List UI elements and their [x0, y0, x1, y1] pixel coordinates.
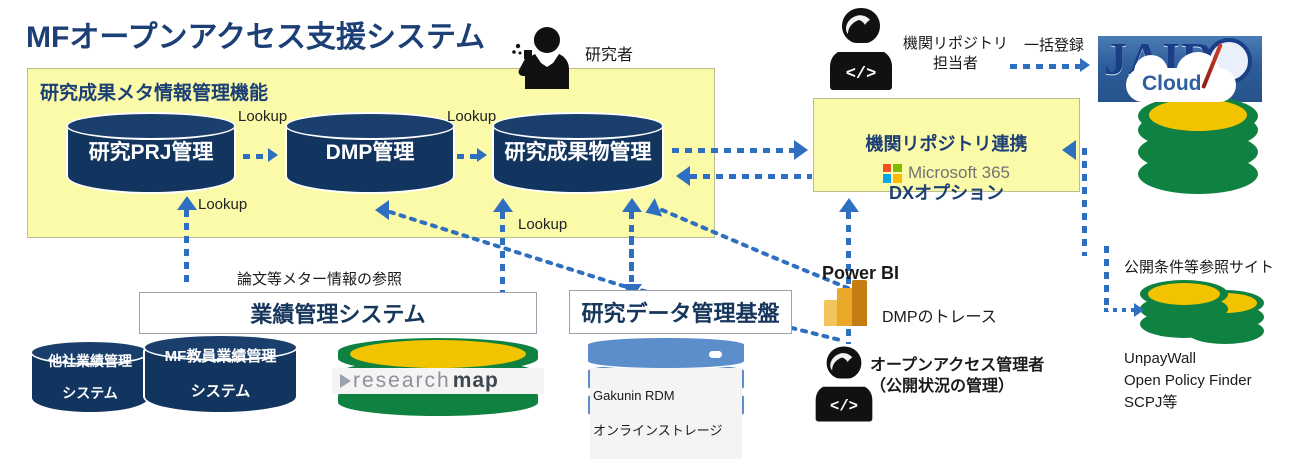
repository-staff-icon: </> — [826, 6, 896, 92]
jairo-to-dx-line — [1082, 148, 1087, 256]
policy-site-item: UnpayWall — [1124, 348, 1252, 370]
system-title: MFオープンアクセス支援システム — [26, 12, 485, 56]
dx-option-box: 機関リポジトリ連携 DXオプション Microsoft 365 — [813, 98, 1080, 192]
server-segment — [586, 336, 746, 370]
database-label: 研究PRJ管理 — [66, 141, 236, 165]
researcher-label: 研究者 — [585, 46, 633, 67]
lookup-gyoseki-line — [184, 210, 189, 288]
policy-site-item: SCPJ等 — [1124, 392, 1252, 414]
database-other-vendor-gyoseki: 他社業績管理 システム — [30, 340, 150, 414]
storage-label-line2: オンラインストレージ — [593, 422, 739, 440]
policy-site-item: Open Policy Finder — [1124, 370, 1252, 392]
lookup-label-dmp-output: Lookup — [447, 108, 496, 125]
repository-staff-label-line2: 担当者 — [903, 54, 1008, 74]
policy-sites-link-elbow — [1104, 308, 1138, 312]
research-data-platform-label: 研究データ管理基盤 — [581, 296, 779, 328]
microsoft-365-badge: Microsoft 365 — [814, 163, 1079, 183]
database-research-output: 研究成果物管理 — [492, 112, 664, 194]
dx-to-output-line — [690, 174, 812, 179]
db-label-line1: 他社業績管理 — [30, 353, 150, 369]
gakunin-rdm-storage: Gakunin RDM オンラインストレージ — [586, 336, 746, 424]
output-to-dx-line — [672, 148, 796, 153]
dmp-backlink-head — [375, 200, 389, 220]
rmap-lid — [350, 340, 526, 368]
db-label-line2: システム — [30, 385, 150, 401]
dx-option-title-line1: 機関リポジトリ連携 — [814, 132, 1079, 156]
bulk-register-head — [1080, 58, 1090, 72]
cylinder-top — [66, 112, 236, 140]
research-data-platform-box: 研究データ管理基盤 — [569, 290, 792, 334]
arrow-prj-to-dmp-line — [243, 154, 269, 159]
lookup-label-prj-dmp: Lookup — [238, 108, 287, 125]
db-disc-top — [1148, 283, 1220, 305]
policy-sites-link-line — [1104, 246, 1109, 312]
database-label: DMP管理 — [285, 141, 455, 165]
arrow-dmp-to-output-head — [477, 148, 487, 162]
diagram-canvas: MFオープンアクセス支援システム 研究成果メタ情報管理機能 研究者 研究PRJ管… — [0, 0, 1300, 440]
microsoft-logo-icon — [883, 164, 902, 183]
repository-staff-label: 機関リポジトリ 担当者 — [903, 34, 1008, 73]
jairo-to-dx-line-h — [1082, 148, 1084, 153]
lookup-gyoseki-head — [177, 196, 197, 210]
lookup-label-gyoseki: Lookup — [198, 196, 247, 213]
output-to-dx-head — [794, 140, 808, 160]
researchmap-label-research: research — [353, 369, 451, 393]
oa-manager-icon: </> — [812, 344, 876, 424]
db-disc-top — [1149, 99, 1247, 131]
researcher-icon — [505, 22, 577, 94]
gyoseki-system-box: 業績管理システム — [139, 292, 537, 334]
policy-sites-db-front — [1140, 278, 1228, 346]
policy-sites-link-head — [1134, 303, 1144, 317]
repository-staff-label-line1: 機関リポジトリ — [903, 34, 1008, 54]
oa-manager-label: オープンアクセス管理者 （公開状況の管理） — [870, 356, 1044, 398]
database-label: 研究成果物管理 — [492, 141, 664, 165]
policy-sites-list: UnpayWall Open Policy Finder SCPJ等 — [1124, 348, 1252, 413]
server-indicator-dot — [709, 351, 722, 358]
jairo-cloud-repository-db — [1138, 96, 1258, 196]
gyoseki-system-label: 業績管理システム — [250, 297, 425, 329]
database-research-prj: 研究PRJ管理 — [66, 112, 236, 194]
arrow-prj-to-dmp-head — [268, 148, 278, 162]
database-label: 他社業績管理 システム — [30, 337, 150, 417]
cylinder-top — [285, 112, 455, 140]
jairo-cloud-label: Cloud — [1142, 72, 1201, 96]
cylinder-top — [492, 112, 664, 140]
power-bi-caption: DMPのトレース — [882, 308, 997, 329]
svg-text:</>: </> — [846, 65, 877, 84]
microsoft-365-label: Microsoft 365 — [908, 163, 1010, 183]
oa-manager-label-line2: （公開状況の管理） — [870, 377, 1044, 398]
jairo-cloud-logo: JAIRO Cloud — [1098, 36, 1262, 102]
power-bi-icon — [824, 280, 872, 326]
play-icon — [340, 374, 351, 388]
database-label: MF教員業績管理 システム — [143, 331, 298, 417]
oa-manager-to-dx-head — [839, 198, 859, 212]
jairo-to-dx-head — [1062, 140, 1076, 160]
researchmap-database: research map — [338, 336, 538, 418]
meta-management-panel-title: 研究成果メタ情報管理機能 — [40, 78, 268, 105]
gakunin-rdm-label: Gakunin RDM オンラインストレージ — [590, 368, 742, 459]
dx-to-output-head — [676, 166, 690, 186]
svg-text:</>: </> — [830, 398, 858, 416]
bulk-register-label: 一括登録 — [1024, 36, 1084, 56]
researchmap-label-map: map — [453, 369, 499, 393]
database-dmp: DMP管理 — [285, 112, 455, 194]
paper-meta-reference-label: 論文等メター情報の参照 — [237, 270, 402, 290]
oa-manager-label-line1: オープンアクセス管理者 — [870, 356, 1044, 377]
storage-label-line1: Gakunin RDM — [593, 387, 739, 405]
arrow-dmp-to-output-line — [457, 154, 479, 159]
researchmap-wordmark: research map — [332, 368, 544, 394]
policy-sites-heading: 公開条件等参照サイト — [1124, 258, 1274, 278]
db-label-line2: システム — [143, 383, 298, 400]
bulk-register-line — [1010, 64, 1082, 69]
database-mf-faculty-gyoseki: MF教員業績管理 システム — [143, 334, 298, 414]
db-label-line1: MF教員業績管理 — [143, 348, 298, 365]
